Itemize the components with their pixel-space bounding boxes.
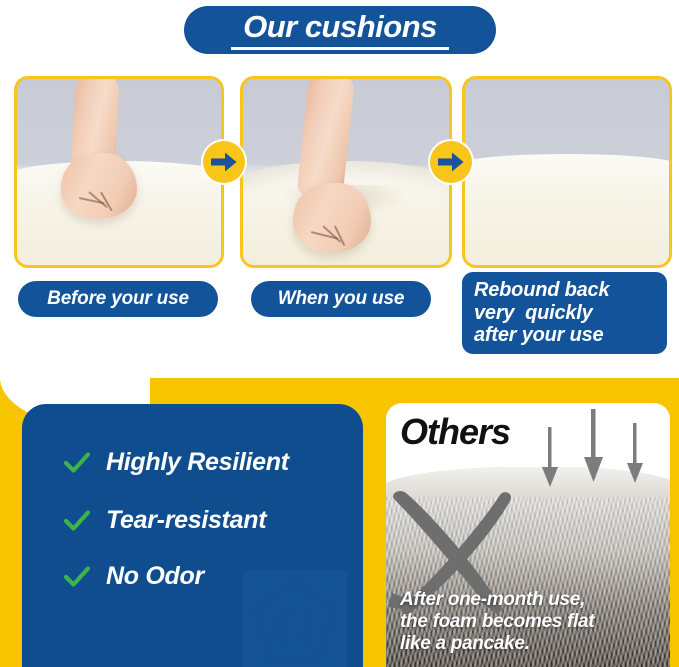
benefit-label: Highly Resilient [106,448,289,477]
caption-line: after your use [474,324,603,347]
caption-line: very quickly [474,302,593,325]
right-arrow-icon [438,152,464,172]
step-arrow-1-badge [203,141,245,183]
check-icon [64,510,90,532]
benefits-card: Highly Resilient Tear-resistant No Odor [22,404,363,667]
others-card: Others After one-month use, the foam bec… [386,403,670,667]
fist [61,153,137,219]
pentagon-a-logo-icon [243,571,347,667]
others-caption-line: the foam becomes flat [400,611,594,633]
caption-before-use: Before your use [18,281,218,317]
others-caption-line: like a pancake. [400,633,594,655]
title-underline [231,47,449,50]
caption-after-use: Rebound back very quickly after your use [462,272,667,354]
benefit-item: Tear-resistant [64,506,266,535]
right-arrow-icon [211,152,237,172]
check-icon [64,452,90,474]
foam-slab [462,154,672,268]
down-arrow-icon [530,409,660,499]
others-caption-line: After one-month use, [400,589,594,611]
benefit-item: No Odor [64,562,204,591]
demo-photo-when-use [240,76,452,268]
infographic-root: Our cushions Bef [0,0,679,667]
page-title-text: Our cushions [243,11,437,45]
benefit-label: Tear-resistant [106,506,266,535]
others-title: Others [400,411,510,453]
demo-photo-before-use [14,76,224,268]
check-icon [64,566,90,588]
benefit-label: No Odor [106,562,204,591]
page-title: Our cushions [184,6,496,54]
caption-when-use: When you use [251,281,431,317]
others-caption: After one-month use, the foam becomes fl… [400,589,594,655]
demo-photo-after-use [462,76,672,268]
fist [293,183,371,253]
benefit-item: Highly Resilient [64,448,289,477]
step-arrow-2-badge [430,141,472,183]
caption-line: Rebound back [474,279,609,302]
